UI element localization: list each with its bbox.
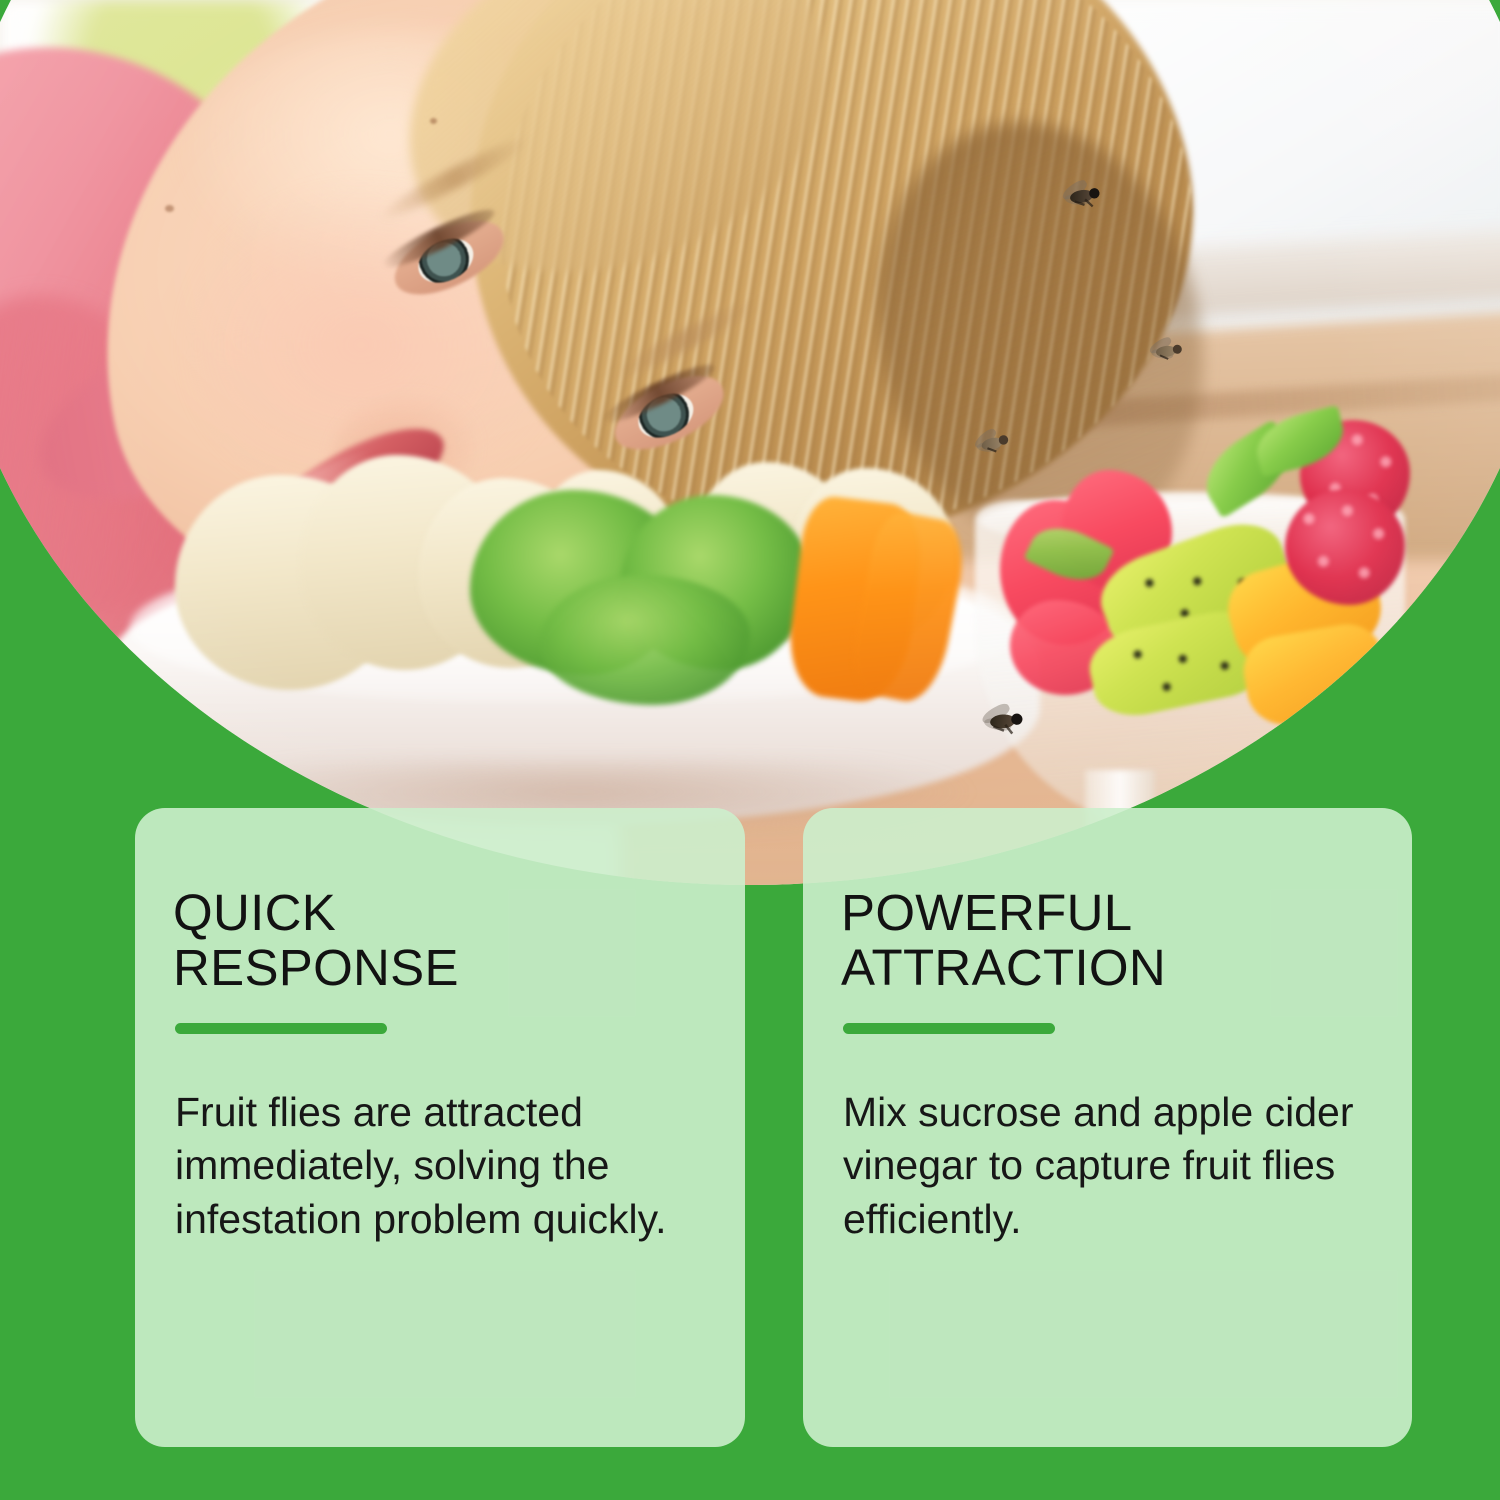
card-body: Fruit flies are attracted immediately, s… [175,1086,701,1246]
infographic-canvas: QUICK RESPONSE Fruit flies are attracted… [0,0,1500,1500]
card-title: QUICK RESPONSE [173,886,701,995]
photo-vignette [0,0,1500,920]
card-body: Mix sucrose and apple cider vinegar to c… [843,1086,1368,1246]
feature-card-quick-response: QUICK RESPONSE Fruit flies are attracted… [135,808,745,1447]
feature-card-powerful-attraction: POWERFUL ATTRACTION Mix sucrose and appl… [803,808,1412,1447]
accent-bar [843,1023,1055,1034]
card-title: POWERFUL ATTRACTION [841,886,1368,995]
accent-bar [175,1023,387,1034]
hero-photo-scene [0,0,1500,920]
